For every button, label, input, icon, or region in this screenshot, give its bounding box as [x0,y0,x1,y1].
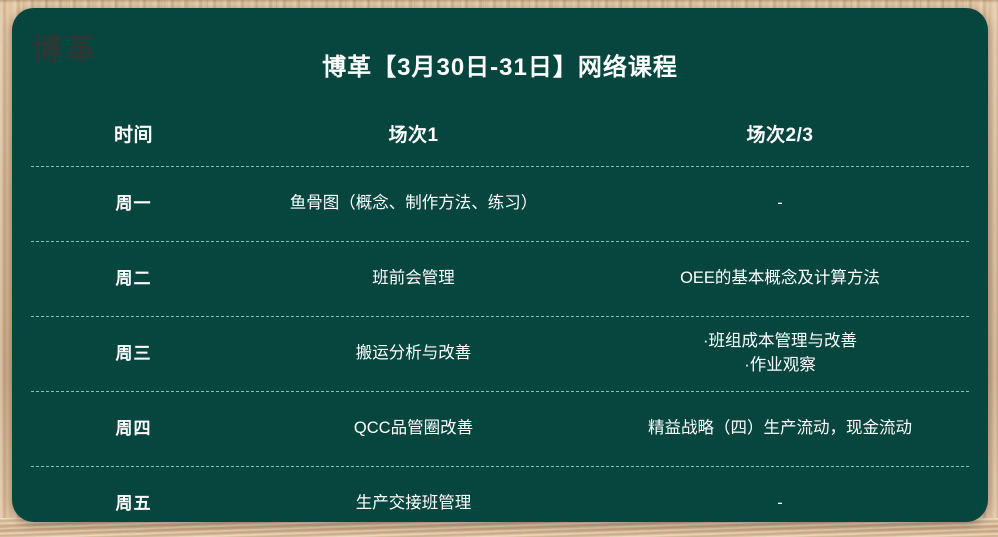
row-divider [31,316,969,317]
course-schedule-card: 博革 博革【3月30日-31日】网络课程 时间 场次1 场次2/3 周一 鱼骨图… [12,8,988,522]
cell-session-2-3-lines: - [595,192,965,216]
cell-session-1: 鱼骨图（概念、制作方法、练习） [236,192,591,216]
cell-session-2-3: - [591,192,969,216]
cell-session-2-3-lines: ·班组成本管理与改善·作业观察 [595,330,965,378]
page-title: 博革【3月30日-31日】网络课程 [12,56,988,80]
row-divider [31,466,969,467]
cell-time: 周五 [31,492,236,517]
table-row: 周一 鱼骨图（概念、制作方法、练习） - [31,167,969,241]
table-row: 周五 生产交接班管理 - [31,467,969,522]
table-row: 周四 QCC品管圈改善 精益战略（四）生产流动，现金流动 [31,392,969,466]
cell-session-1: 搬运分析与改善 [236,342,591,366]
cell-time: 周二 [31,267,236,292]
header-time: 时间 [31,122,236,150]
cell-time: 周四 [31,417,236,442]
cell-time: 周三 [31,342,236,367]
table-row: 周三 搬运分析与改善 ·班组成本管理与改善·作业观察 [31,317,969,391]
row-divider [31,166,969,167]
cell-session-2-3: OEE的基本概念及计算方法 [591,267,969,291]
row-divider [31,241,969,242]
poster-page: 博革 博革【3月30日-31日】网络课程 时间 场次1 场次2/3 周一 鱼骨图… [0,0,998,537]
wood-top-edge [0,0,998,3]
row-divider [31,391,969,392]
cell-session-2-3-lines: OEE的基本概念及计算方法 [595,267,965,291]
header-session-1: 场次1 [236,122,591,150]
schedule-table: 时间 场次1 场次2/3 周一 鱼骨图（概念、制作方法、练习） - 周二 班前会… [31,106,969,522]
cell-session-2-3: - [591,492,969,516]
cell-session-1: 生产交接班管理 [236,492,591,516]
table-header-row: 时间 场次1 场次2/3 [31,106,969,166]
cell-session-2-3-lines: 精益战略（四）生产流动，现金流动 [595,417,965,441]
cell-time: 周一 [31,192,236,217]
header-session-2-3: 场次2/3 [591,122,969,150]
cell-session-1: QCC品管圈改善 [236,417,591,441]
cell-session-2-3-lines: - [595,492,965,516]
cell-session-2-3: 精益战略（四）生产流动，现金流动 [591,417,969,441]
cell-session-2-3: ·班组成本管理与改善·作业观察 [591,330,969,378]
cell-session-1: 班前会管理 [236,267,591,291]
table-row: 周二 班前会管理 OEE的基本概念及计算方法 [31,242,969,316]
